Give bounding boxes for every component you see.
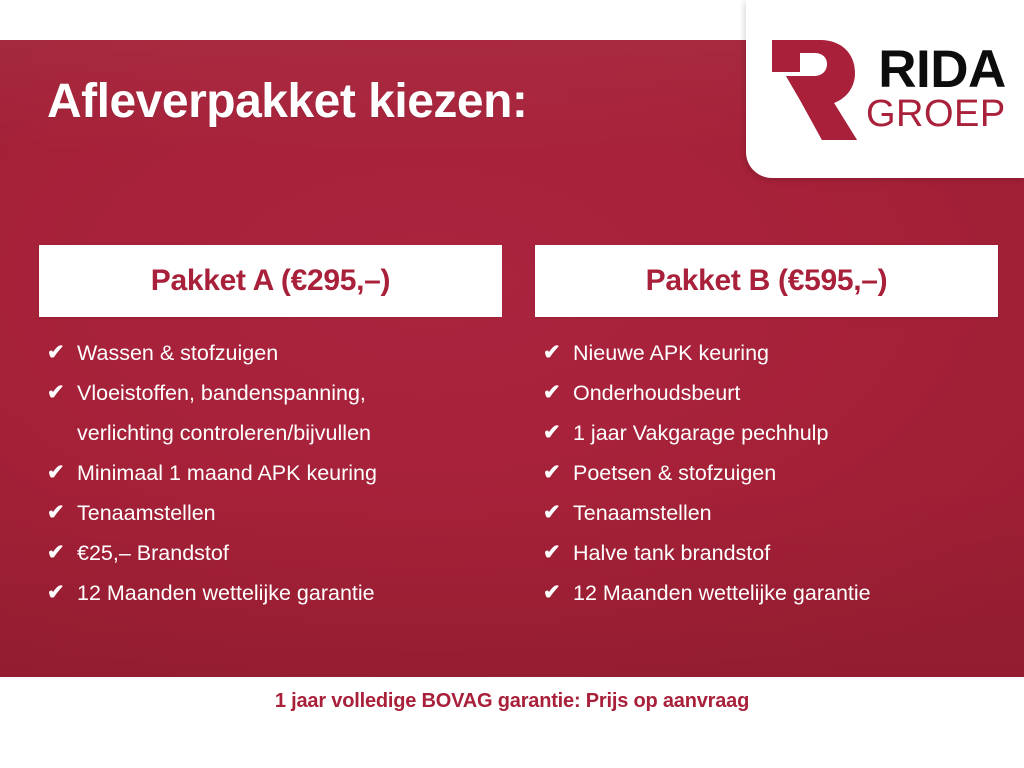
list-item: ✔ Nieuwe APK keuring bbox=[543, 333, 998, 373]
slide-root: Afleverpakket kiezen: RIDA GROEP Pakket … bbox=[0, 0, 1024, 768]
list-item: ✔ 12 Maanden wettelijke garantie bbox=[47, 573, 502, 613]
list-item: ✔ 12 Maanden wettelijke garantie bbox=[543, 573, 998, 613]
package-a-title: Pakket A (€295,–) bbox=[151, 264, 391, 298]
feature-text: 12 Maanden wettelijke garantie bbox=[573, 573, 998, 613]
feature-text: Nieuwe APK keuring bbox=[573, 333, 998, 373]
package-a-feature-list: ✔ Wassen & stofzuigen ✔ Vloeistoffen, ba… bbox=[39, 317, 502, 613]
list-item: ✔ Poetsen & stofzuigen bbox=[543, 453, 998, 493]
check-icon: ✔ bbox=[543, 373, 573, 413]
list-item: ✔ Vloeistoffen, bandenspanning, verlicht… bbox=[47, 373, 502, 453]
check-icon: ✔ bbox=[543, 573, 573, 613]
feature-text: Tenaamstellen bbox=[77, 493, 502, 533]
check-icon: ✔ bbox=[47, 573, 77, 613]
package-column-a: Pakket A (€295,–) ✔ Wassen & stofzuigen … bbox=[39, 245, 502, 613]
feature-text: €25,– Brandstof bbox=[77, 533, 502, 573]
package-a-header[interactable]: Pakket A (€295,–) bbox=[39, 245, 502, 317]
feature-text: Poetsen & stofzuigen bbox=[573, 453, 998, 493]
check-icon: ✔ bbox=[47, 493, 77, 533]
list-item: ✔ Halve tank brandstof bbox=[543, 533, 998, 573]
list-item: ✔ Onderhoudsbeurt bbox=[543, 373, 998, 413]
feature-text: Wassen & stofzuigen bbox=[77, 333, 502, 373]
brand-subname: GROEP bbox=[866, 97, 1006, 132]
package-column-b: Pakket B (€595,–) ✔ Nieuwe APK keuring ✔… bbox=[535, 245, 998, 613]
check-icon: ✔ bbox=[47, 533, 77, 573]
footer-bar: 1 jaar volledige BOVAG garantie: Prijs o… bbox=[0, 677, 1024, 768]
list-item: ✔ Tenaamstellen bbox=[543, 493, 998, 533]
list-item: ✔ Wassen & stofzuigen bbox=[47, 333, 502, 373]
check-icon: ✔ bbox=[47, 453, 77, 493]
rida-r-monogram-icon bbox=[762, 34, 858, 146]
check-icon: ✔ bbox=[543, 493, 573, 533]
feature-text: 12 Maanden wettelijke garantie bbox=[77, 573, 502, 613]
brand-logo-panel: RIDA GROEP bbox=[746, 0, 1024, 178]
list-item: ✔ 1 jaar Vakgarage pechhulp bbox=[543, 413, 998, 453]
list-item: ✔ Tenaamstellen bbox=[47, 493, 502, 533]
feature-text: 1 jaar Vakgarage pechhulp bbox=[573, 413, 998, 453]
feature-text: Minimaal 1 maand APK keuring bbox=[77, 453, 502, 493]
feature-text: Vloeistoffen, bandenspanning, verlichtin… bbox=[77, 373, 502, 453]
check-icon: ✔ bbox=[543, 413, 573, 453]
list-item: ✔ Minimaal 1 maand APK keuring bbox=[47, 453, 502, 493]
feature-text: Tenaamstellen bbox=[573, 493, 998, 533]
feature-text: Onderhoudsbeurt bbox=[573, 373, 998, 413]
package-b-title: Pakket B (€595,–) bbox=[646, 264, 888, 298]
feature-text: Halve tank brandstof bbox=[573, 533, 998, 573]
check-icon: ✔ bbox=[47, 333, 77, 373]
brand-name: RIDA bbox=[878, 46, 1006, 95]
check-icon: ✔ bbox=[47, 373, 77, 413]
page-title: Afleverpakket kiezen: bbox=[47, 76, 527, 129]
package-b-header[interactable]: Pakket B (€595,–) bbox=[535, 245, 998, 317]
list-item: ✔ €25,– Brandstof bbox=[47, 533, 502, 573]
brand-wordmark: RIDA GROEP bbox=[866, 46, 1006, 132]
check-icon: ✔ bbox=[543, 333, 573, 373]
package-b-feature-list: ✔ Nieuwe APK keuring ✔ Onderhoudsbeurt ✔… bbox=[535, 317, 998, 613]
footer-note: 1 jaar volledige BOVAG garantie: Prijs o… bbox=[275, 690, 749, 713]
packages-container: Pakket A (€295,–) ✔ Wassen & stofzuigen … bbox=[0, 245, 1024, 613]
check-icon: ✔ bbox=[543, 453, 573, 493]
check-icon: ✔ bbox=[543, 533, 573, 573]
